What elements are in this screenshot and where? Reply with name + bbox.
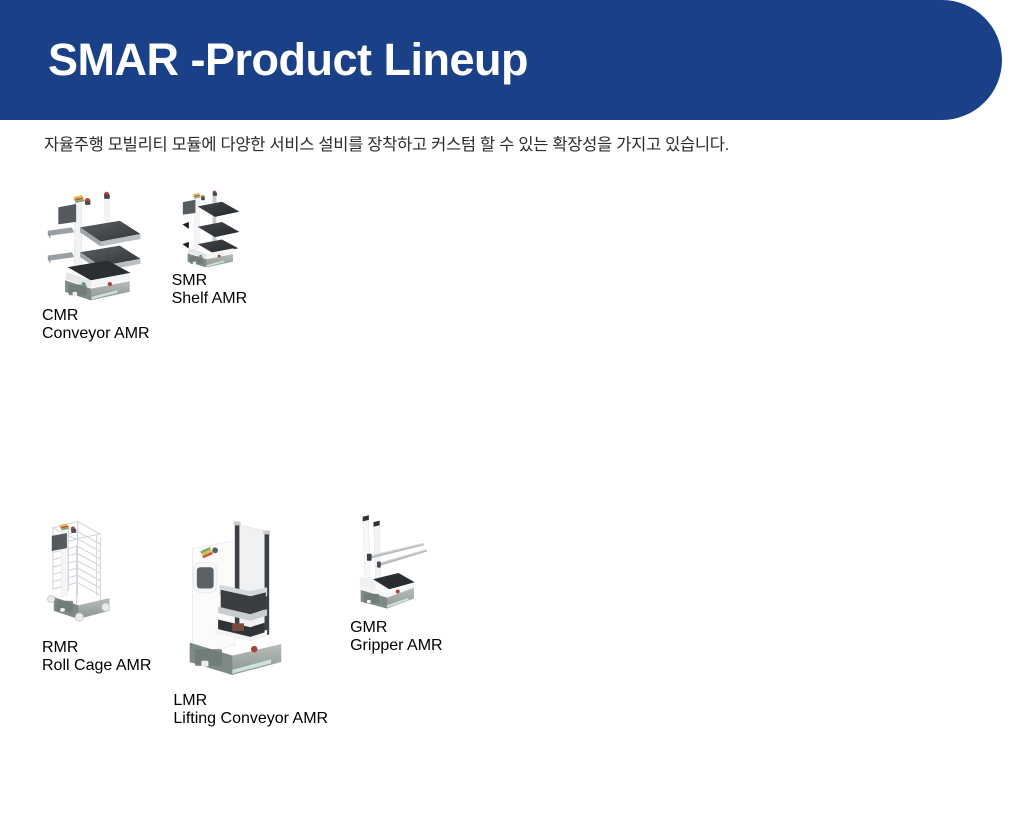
product-card-cmr[interactable]: CMR Conveyor AMR xyxy=(42,186,150,466)
product-description: Lifting Conveyor AMR xyxy=(173,710,328,728)
page-header-band: SMAR -Product Lineup xyxy=(0,0,1002,120)
product-description: Shelf AMR xyxy=(172,290,248,308)
product-code: CMR xyxy=(42,307,150,325)
page-subtitle: 자율주행 모빌리티 모듈에 다양한 서비스 설비를 장착하고 커스텀 할 수 있… xyxy=(44,131,729,155)
product-code: SMR xyxy=(172,272,248,290)
product-card-gmr[interactable]: GMR Gripper AMR xyxy=(350,506,442,786)
product-card-lmr[interactable]: LMR Lifting Conveyor AMR xyxy=(173,506,328,786)
product-code: LMR xyxy=(173,692,328,710)
product-description: Roll Cage AMR xyxy=(42,657,151,675)
product-card-row-bottom: RMR Roll Cage AMR xyxy=(42,506,982,786)
lifting-conveyor-amr-robot-image xyxy=(173,506,328,692)
product-card-rmr[interactable]: RMR Roll Cage AMR xyxy=(42,506,151,786)
product-description: Gripper AMR xyxy=(350,637,442,655)
product-card-rmr-label: RMR Roll Cage AMR xyxy=(42,639,151,675)
shelf-amr-robot-image xyxy=(172,186,248,272)
roll-cage-amr-robot-image xyxy=(42,506,151,639)
product-card-cmr-label: CMR Conveyor AMR xyxy=(42,307,150,343)
product-card-smr-label: SMR Shelf AMR xyxy=(172,272,248,308)
product-card-smr[interactable]: SMR Shelf AMR xyxy=(172,186,248,466)
conveyor-amr-robot-image xyxy=(42,186,150,307)
product-code: RMR xyxy=(42,639,151,657)
product-description: Conveyor AMR xyxy=(42,325,150,343)
gripper-amr-robot-image xyxy=(350,506,442,619)
product-card-lmr-label: LMR Lifting Conveyor AMR xyxy=(173,692,328,728)
page-title: SMAR -Product Lineup xyxy=(48,34,528,86)
product-card-gmr-label: GMR Gripper AMR xyxy=(350,619,442,655)
product-card-row-top: CMR Conveyor AMR xyxy=(42,186,982,466)
product-code: GMR xyxy=(350,619,442,637)
